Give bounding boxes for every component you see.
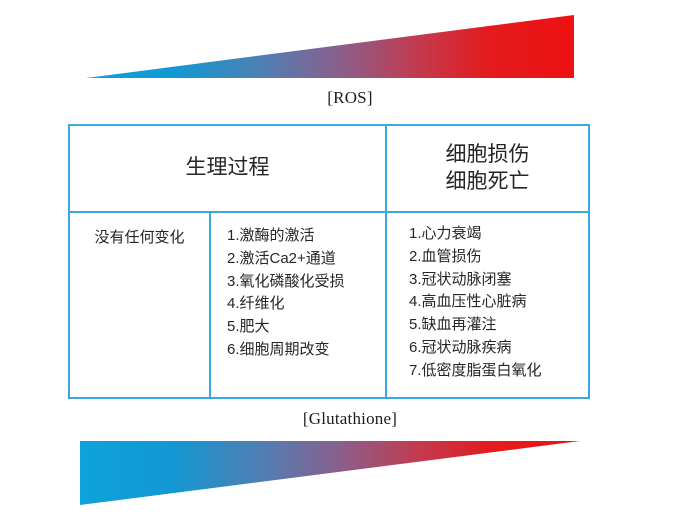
- glutathione-gradient-wedge: [80, 439, 580, 507]
- ros-axis-label: [ROS]: [0, 88, 700, 108]
- list-item: 6.冠状动脉疾病: [409, 337, 542, 360]
- glutathione-axis-label: [Glutathione]: [0, 409, 700, 429]
- figure-canvas: [ROS] 生理过程 细胞损伤 细胞死亡 没有任何变化 1.激酶的激活 2.激活…: [0, 0, 700, 525]
- header-physiological-label: 生理过程: [186, 155, 270, 182]
- list-item: 3.氧化磷酸化受损: [227, 271, 345, 294]
- list-item: 1.激酶的激活: [227, 225, 345, 248]
- list-item: 6.细胞周期改变: [227, 339, 345, 362]
- no-change-label: 没有任何变化: [94, 227, 184, 248]
- list-item: 2.血管损伤: [409, 246, 542, 269]
- list-item: 1.心力衰竭: [409, 223, 542, 246]
- list-item: 5.肥大: [227, 316, 345, 339]
- header-cell-physiological: 生理过程: [70, 126, 387, 211]
- list-item: 7.低密度脂蛋白氧化: [409, 360, 542, 383]
- list-item: 4.高血压性心脏病: [409, 291, 542, 314]
- cell-no-change: 没有任何变化: [70, 213, 211, 397]
- damage-effects-list: 1.心力衰竭 2.血管损伤 3.冠状动脉闭塞 4.高血压性心脏病 5.缺血再灌注…: [409, 223, 542, 383]
- list-item: 4.纤维化: [227, 293, 345, 316]
- physiological-effects-list: 1.激酶的激活 2.激活Ca2+通道 3.氧化磷酸化受损 4.纤维化 5.肥大 …: [227, 225, 345, 362]
- table-header-row: 生理过程 细胞损伤 细胞死亡: [70, 126, 588, 213]
- cell-physiological-effects: 1.激酶的激活 2.激活Ca2+通道 3.氧化磷酸化受损 4.纤维化 5.肥大 …: [211, 213, 387, 397]
- table-body-row: 没有任何变化 1.激酶的激活 2.激活Ca2+通道 3.氧化磷酸化受损 4.纤维…: [70, 213, 588, 397]
- header-damage-label: 细胞损伤 细胞死亡: [446, 142, 530, 196]
- ros-gradient-wedge: [86, 15, 574, 81]
- cell-damage-effects: 1.心力衰竭 2.血管损伤 3.冠状动脉闭塞 4.高血压性心脏病 5.缺血再灌注…: [387, 213, 588, 397]
- header-cell-damage: 细胞损伤 细胞死亡: [387, 126, 588, 211]
- effects-matrix-table: 生理过程 细胞损伤 细胞死亡 没有任何变化 1.激酶的激活 2.激活Ca2+通道…: [68, 124, 590, 399]
- list-item: 3.冠状动脉闭塞: [409, 269, 542, 292]
- list-item: 5.缺血再灌注: [409, 314, 542, 337]
- list-item: 2.激活Ca2+通道: [227, 248, 345, 271]
